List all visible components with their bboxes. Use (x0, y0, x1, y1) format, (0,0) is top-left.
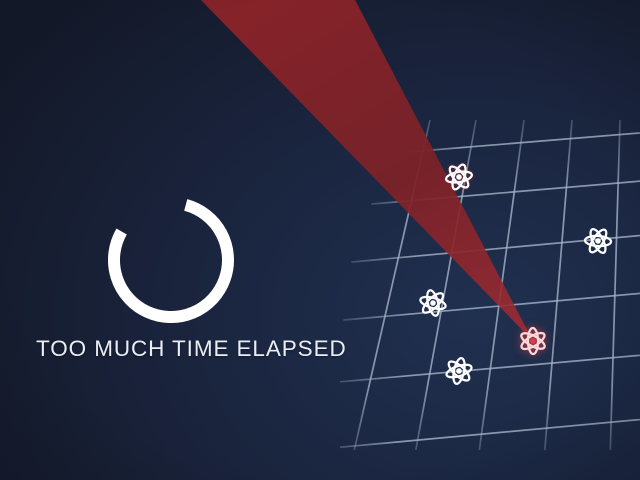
atom-icon-glyph (580, 223, 616, 259)
atom-icon (441, 159, 477, 195)
error-screen: TOO MUCH TIME ELAPSED (0, 0, 640, 480)
atom-icon (415, 285, 451, 321)
atom-icon-glyph (441, 159, 477, 195)
screen-vignette (0, 0, 640, 480)
atom-icon-glyph (415, 285, 451, 321)
loading-spinner (108, 197, 234, 323)
status-message: TOO MUCH TIME ELAPSED (36, 336, 456, 362)
spinner-arc (108, 197, 234, 323)
atom-icon-glyph (515, 323, 551, 359)
atom-icon (515, 323, 551, 359)
atom-icon (580, 223, 616, 259)
